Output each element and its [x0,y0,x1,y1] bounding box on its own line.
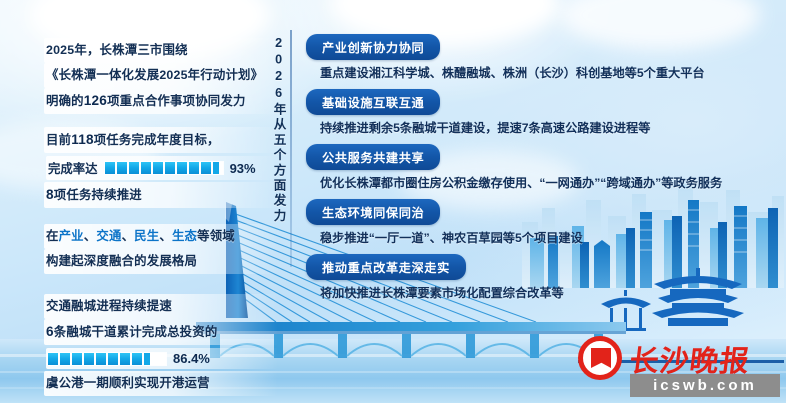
task-line-1-suffix: 项任务完成年度目标， [94,133,220,147]
progress-segment [96,353,106,365]
aspect-item-4: 生态环境同保同治稳步推进“一厅一道”、神农百草园等5个项目建设 [306,199,776,247]
progress-segment [153,162,163,174]
aspect-description-2: 持续推进剩余5条融城干道建设，提速7条高速公路建设进程等 [320,120,776,137]
completion-rate-row: 完成率达 93% [46,156,278,180]
aspect-label-2[interactable]: 基础设施互联互通 [306,89,440,115]
block-integration-fields: 在产业、交通、民生、生态等领域 构建起深度融合的发展格局 [46,224,278,274]
plan-item-count: 126 [84,93,107,108]
sep: 、 [122,229,135,243]
progress-segment [213,162,223,174]
five-aspects-list: 产业创新协力协同重点建设湘江科学城、株醴融城、株洲（长沙）科创基地等5个重大平台… [306,34,776,309]
progress-segment [189,162,199,174]
sep: 、 [84,229,97,243]
progress-segment [84,353,94,365]
aspect-item-2: 基础设施互联互通持续推进剩余5条融城干道建设，提速7条高速公路建设进程等 [306,89,776,137]
completion-rate-bar [105,162,223,174]
completion-rate-label: 完成率达 [48,159,98,177]
progress-segment [129,162,139,174]
infographic-canvas: 2025年，长株潭三市围绕 《长株潭一体化发展2025年行动计划》 明确的126… [0,0,786,403]
field-ecology: 生态 [172,229,197,243]
progress-segment [165,162,175,174]
investment-rate-value: 86.4% [173,351,210,366]
aspect-description-3: 优化长株潭都市圈住房公积金缴存使用、“一网通办”“跨域通办”等政务服务 [320,175,776,192]
aspect-label-3[interactable]: 公共服务共建共享 [306,144,440,170]
block-task-progress: 目前118项任务完成年度目标， 完成率达 93% 8项任务持续推进 [46,127,278,208]
logo-website-url: icswb.com [630,374,780,397]
completion-rate-value: 93% [230,161,256,176]
plan-line-1: 2025年，长株潭三市围绕 [44,38,278,63]
progress-segment [72,353,82,365]
column-divider [290,30,292,267]
aspect-label-1[interactable]: 产业创新协力协同 [306,34,440,60]
plan-line-3-suffix: 项重点合作事项协同发力 [107,94,246,108]
field-livelihood: 民生 [134,229,159,243]
task-ongoing-count: 8 [46,187,54,202]
fields-prefix: 在 [46,229,59,243]
investment-rate-row: 86.4% [46,348,278,369]
progress-segment [48,353,58,365]
task-line-3-suffix: 项任务持续推进 [54,188,142,202]
progress-segment [120,353,130,365]
transport-line-2-suffix: 条融城干道累计完成总投资的 [54,325,218,339]
aspect-label-5[interactable]: 推动重点改革走深走实 [306,254,466,280]
block-transport-progress: 交通融城进程持续提速 6条融城干道累计完成总投资的 86.4% 虞公港一期顺利实… [46,294,278,396]
progress-segment [108,353,118,365]
plan-line-2: 《长株潭一体化发展2025年行动计划》 [44,63,278,88]
task-line-1-prefix: 目前 [46,133,71,147]
progress-segment [141,162,151,174]
aspect-item-5: 推动重点改革走深走实将加快推进长株潭要素市场化配置综合改革等 [306,254,776,302]
progress-segment [156,353,166,365]
transport-line-1: 交通融城进程持续提速 [44,294,278,319]
progress-segment [201,162,211,174]
aspect-description-4: 稳步推进“一厅一道”、神农百草园等5个项目建设 [320,230,776,247]
progress-segment [105,162,115,174]
task-completed-count: 118 [71,132,94,147]
sep: 、 [159,229,172,243]
trunk-road-count: 6 [46,324,54,339]
transport-line-2: 6条融城干道累计完成总投资的 [44,319,278,345]
logo-mark-icon [578,336,622,380]
progress-segment [177,162,187,174]
investment-rate-bar [48,353,166,365]
aspect-item-3: 公共服务共建共享优化长株潭都市圈住房公积金缴存使用、“一网通办”“跨域通办”等政… [306,144,776,192]
plan-line-3-prefix: 明确的 [46,94,84,108]
side-title: 2026年从五个方面发力 [272,36,285,224]
aspect-description-5: 将加快推进长株潭要素市场化配置综合改革等 [320,285,776,302]
fields-suffix: 等领域 [197,229,235,243]
progress-segment [132,353,142,365]
task-line-1: 目前118项任务完成年度目标， [44,127,278,153]
field-transport: 交通 [96,229,121,243]
progress-segment [60,353,70,365]
fields-line-1: 在产业、交通、民生、生态等领域 [44,224,278,249]
field-industry: 产业 [59,229,84,243]
fields-line-2: 构建起深度融合的发展格局 [44,249,278,274]
left-content-column: 2025年，长株潭三市围绕 《长株潭一体化发展2025年行动计划》 明确的126… [46,38,278,403]
plan-line-3: 明确的126项重点合作事项协同发力 [44,88,278,114]
transport-line-4: 虞公港一期顺利实现开港运营 [44,371,278,396]
aspect-item-1: 产业创新协力协同重点建设湘江科学城、株醴融城、株洲（长沙）科创基地等5个重大平台 [306,34,776,82]
publisher-logo: 长沙晚报 icswb.com [578,334,782,400]
task-line-3: 8项任务持续推进 [44,182,278,208]
progress-segment [144,353,154,365]
aspect-label-4[interactable]: 生态环境同保同治 [306,199,440,225]
progress-segment [117,162,127,174]
block-2025-plan: 2025年，长株潭三市围绕 《长株潭一体化发展2025年行动计划》 明确的126… [46,38,278,114]
aspect-description-1: 重点建设湘江科学城、株醴融城、株洲（长沙）科创基地等5个重大平台 [320,65,776,82]
